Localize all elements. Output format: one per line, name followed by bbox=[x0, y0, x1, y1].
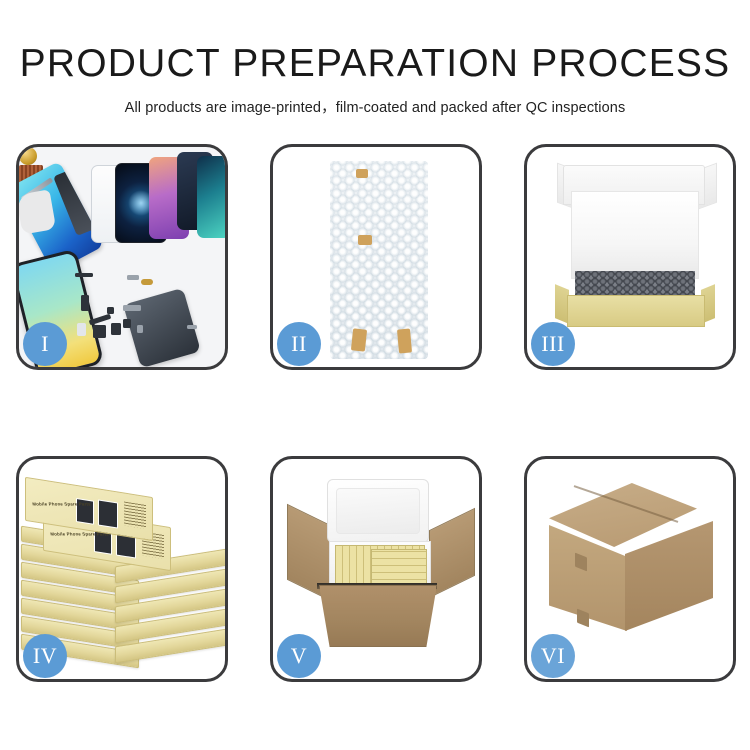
part-gold-clip-icon bbox=[141, 279, 153, 285]
part-screw-icon bbox=[137, 325, 143, 333]
product-preparation-infographic: PRODUCT PREPARATION PROCESS All products… bbox=[0, 0, 750, 750]
part-strip-icon bbox=[75, 273, 93, 277]
panel-step-5[interactable]: V bbox=[270, 456, 482, 682]
step-badge-1: I bbox=[23, 322, 67, 366]
hand-icon bbox=[19, 189, 56, 234]
wrapped-screen-icon bbox=[346, 175, 412, 345]
part-pin-icon bbox=[187, 325, 197, 329]
part-small-ic-icon bbox=[107, 307, 114, 314]
part-camera-icon bbox=[93, 325, 106, 338]
part-connector-icon bbox=[127, 275, 139, 280]
tape-piece-icon bbox=[356, 169, 368, 178]
part-ic-icon bbox=[123, 319, 131, 328]
wrapped-flex-icon bbox=[374, 221, 386, 345]
step-badge-label: VI bbox=[541, 643, 565, 669]
tape-piece-icon bbox=[358, 235, 372, 245]
part-bracket-icon bbox=[123, 305, 141, 311]
box-text-lines bbox=[124, 502, 146, 529]
carton-right-face-icon bbox=[625, 521, 713, 631]
page-subtitle: All products are image-printed，film-coat… bbox=[0, 85, 750, 117]
process-step-grid: I II bbox=[16, 144, 736, 682]
teal-phone-icon bbox=[197, 156, 225, 238]
step-badge-5: V bbox=[277, 634, 321, 678]
step-badge-4: IV bbox=[23, 634, 67, 678]
step-badge-label: II bbox=[291, 331, 307, 357]
step-badge-3: III bbox=[531, 322, 575, 366]
packed-units-icon bbox=[371, 549, 427, 587]
box-window-icon bbox=[98, 499, 118, 528]
step-badge-2: II bbox=[277, 322, 321, 366]
panel-step-3[interactable]: III bbox=[524, 144, 736, 370]
panel-step-2[interactable]: II bbox=[270, 144, 482, 370]
step-badge-label: I bbox=[41, 331, 49, 357]
foam-lid-icon bbox=[327, 479, 429, 543]
step-badge-label: III bbox=[541, 331, 564, 357]
vibrator-motor-icon bbox=[19, 147, 37, 165]
part-speaker-icon bbox=[111, 323, 121, 335]
panel-step-4[interactable]: Mobile Phone Spare Parts Mobile Phone Sp… bbox=[16, 456, 228, 682]
tape-piece-icon bbox=[351, 328, 367, 351]
part-white-chip-icon bbox=[77, 323, 86, 336]
panel-step-1[interactable]: I bbox=[16, 144, 228, 370]
step-badge-label: IV bbox=[33, 643, 57, 669]
yellow-tray-icon bbox=[567, 295, 705, 327]
box-liner-icon bbox=[571, 191, 699, 279]
part-flex-cable-icon bbox=[81, 295, 89, 311]
step-badge-6: VI bbox=[531, 634, 575, 678]
carton-body-icon bbox=[319, 585, 437, 647]
box-brand-label: Mobile Phone Spare Parts bbox=[32, 502, 91, 507]
tape-piece-icon bbox=[397, 328, 412, 353]
page-title: PRODUCT PREPARATION PROCESS bbox=[0, 0, 750, 85]
bubble-wrap-bag-icon bbox=[330, 161, 428, 359]
panel-step-6[interactable]: VI bbox=[524, 456, 736, 682]
header: PRODUCT PREPARATION PROCESS All products… bbox=[0, 0, 750, 117]
step-badge-label: V bbox=[291, 643, 307, 669]
